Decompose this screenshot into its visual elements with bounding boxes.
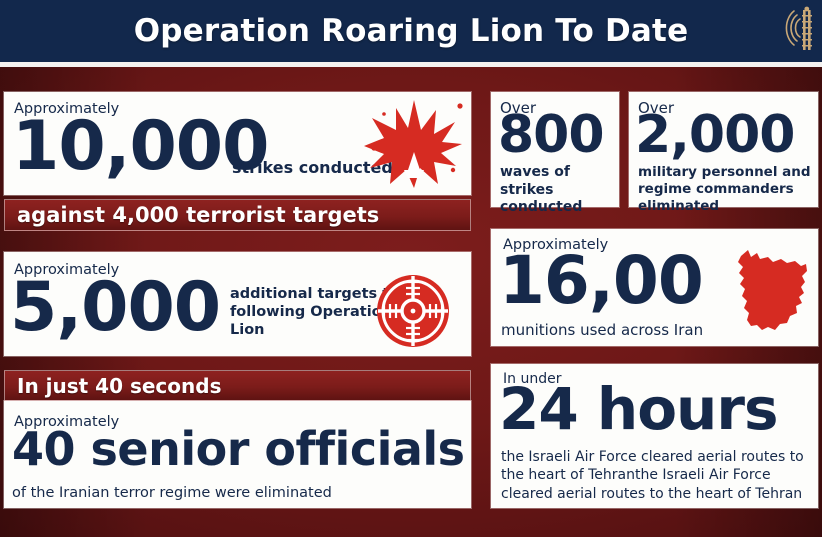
explosion-icon: [358, 96, 470, 192]
strikes-number: 10,000: [12, 116, 268, 179]
banner-forty-seconds: In just 40 seconds: [4, 370, 471, 401]
personnel-description: military personnel and regime commanders…: [638, 164, 818, 215]
hours-number: 24 hours: [499, 383, 777, 436]
waves-number: 800: [498, 112, 604, 160]
stat-card-hours: In under 24 hours the Israeli Air Force …: [491, 364, 818, 508]
munitions-number: 16,00: [499, 251, 703, 312]
additional-number: 5,000: [10, 277, 220, 340]
page-header: Operation Roaring Lion To Date: [0, 0, 822, 62]
crosshair-target-icon: [375, 273, 451, 349]
banner-terrorist-targets-text: against 4,000 terrorist targets: [5, 203, 379, 227]
stat-card-waves: Over 800 waves of strikes conducted: [491, 92, 619, 207]
banner-forty-seconds-text: In just 40 seconds: [5, 374, 221, 398]
hours-description: the Israeli Air Force cleared aerial rou…: [501, 448, 813, 503]
officials-number: 40 senior officials: [12, 428, 465, 470]
page-title: Operation Roaring Lion To Date: [134, 13, 689, 49]
stat-card-senior-officials: Approximately 40 senior officials of the…: [4, 401, 471, 508]
personnel-number: 2,000: [635, 112, 794, 160]
banner-terrorist-targets: against 4,000 terrorist targets: [4, 199, 471, 231]
officials-description: of the Iranian terror regime were elimin…: [12, 484, 332, 502]
munitions-description: munitions used across Iran: [501, 321, 703, 340]
stat-card-personnel: Over 2,000 military personnel and regime…: [629, 92, 818, 207]
iran-map-icon: [735, 240, 811, 338]
broadcast-antenna-icon: [780, 4, 816, 56]
waves-description: waves of strikes conducted: [500, 164, 615, 217]
